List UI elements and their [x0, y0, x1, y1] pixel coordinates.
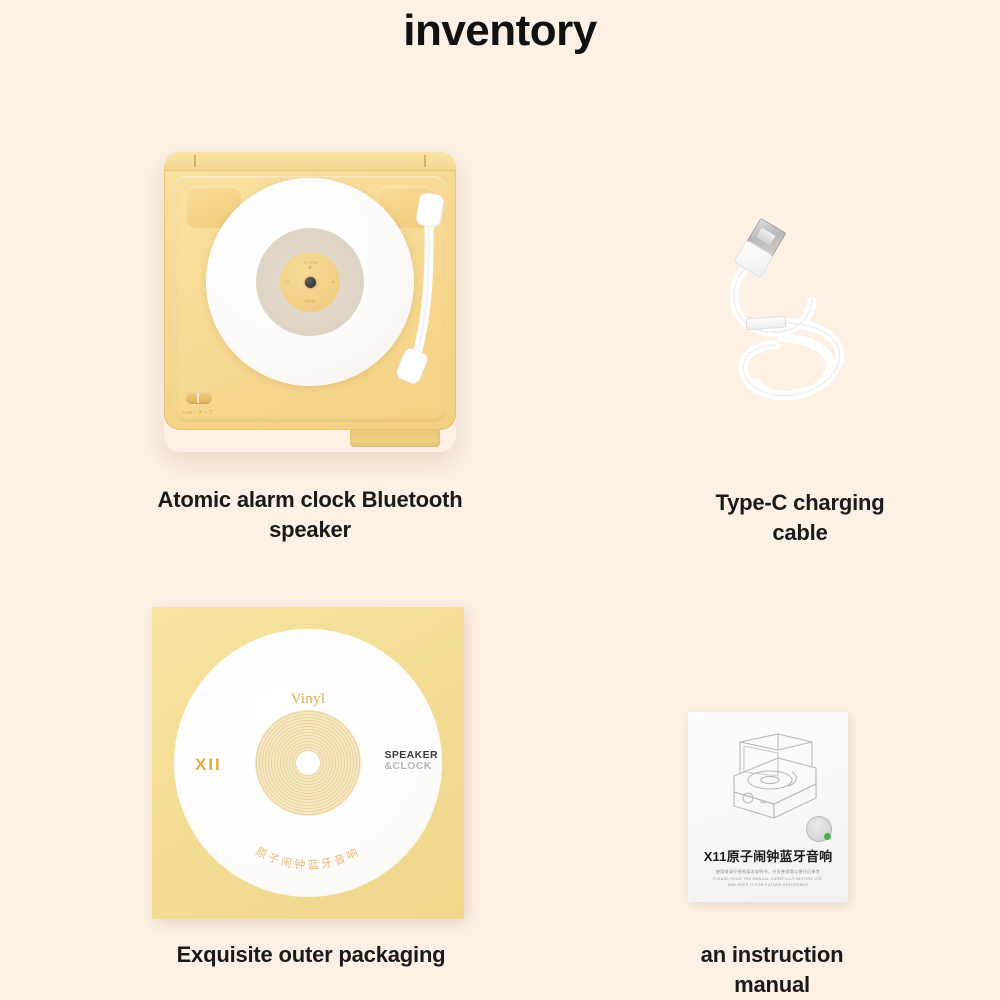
caption-line-1: Exquisite outer packaging: [177, 942, 446, 967]
brand-line-2: &CLOCK: [384, 761, 438, 772]
packaging-box: Vinyl XII SPEAKER &CLOCK 原子闹钟蓝牙音响: [152, 607, 464, 919]
turntable-disc-ring: · 33 RPM · 33 45 RPM: [256, 228, 364, 336]
label-dot-marker: [309, 266, 312, 269]
product-image-instruction-manual: X11原子闹钟蓝牙音响 使用前请仔细阅读本说明书，并妥善保管以便日后参考 PLE…: [688, 712, 856, 908]
manual-subtext-en-2: AND KEEP IT FOR FUTURE REFERENCE: [688, 882, 848, 889]
caption-line-1: Atomic alarm clock Bluetooth: [158, 487, 463, 512]
product-image-turntable-speaker: · 33 RPM · 33 45 RPM: [150, 130, 470, 460]
cable-illustration: [690, 205, 910, 420]
caption-instruction-manual: an instruction manual: [688, 940, 856, 999]
turntable-spindle: [305, 277, 316, 288]
manual-cover: X11原子闹钟蓝牙音响 使用前请仔细阅读本说明书，并妥善保管以便日后参考 PLE…: [688, 712, 848, 902]
label-text-left: 33: [285, 280, 289, 284]
manual-subtext-cn: 使用前请仔细阅读本说明书，并妥善保管以便日后参考: [688, 868, 848, 876]
inventory-page: inventory · 33 RPM · 33 45 RPM: [0, 0, 1000, 1000]
caption-turntable-speaker: Atomic alarm clock Bluetooth speaker: [150, 485, 470, 544]
manual-title: X11原子闹钟蓝牙音响: [688, 846, 848, 865]
turntable-mode-switch[interactable]: [186, 392, 212, 404]
manual-subtext: 使用前请仔细阅读本说明书，并妥善保管以便日后参考 PLEASE READ THE…: [688, 868, 848, 889]
label-text-top: · 33 RPM ·: [301, 261, 319, 265]
certification-seal-icon: [806, 816, 832, 842]
caption-line-2: speaker: [269, 517, 351, 542]
page-title: inventory: [0, 6, 1000, 56]
packaging-disc-center-hole: [296, 751, 320, 775]
packaging-brand-mark: SPEAKER &CLOCK: [384, 750, 438, 773]
turntable-lid-hinge: [164, 152, 456, 171]
manual-product-line-drawing: [704, 732, 832, 828]
product-image-outer-packaging: Vinyl XII SPEAKER &CLOCK 原子闹钟蓝牙音响 Exquis…: [152, 607, 470, 925]
turntable-center-label: · 33 RPM · 33 45 RPM: [280, 252, 340, 312]
turntable-switch-label: AUX・テープ: [182, 410, 213, 416]
packaging-roman-numeral: XII: [195, 755, 222, 775]
product-image-type-c-cable: Type-C charging cable: [690, 205, 910, 420]
turntable-tonearm: [396, 190, 456, 400]
turntable-body: · 33 RPM · 33 45 RPM: [164, 152, 456, 430]
label-text-right: 45: [331, 280, 335, 284]
caption-type-c-cable: Type-C charging cable: [690, 488, 910, 547]
caption-line-1: Type-C charging cable: [716, 490, 885, 545]
caption-outer-packaging: Exquisite outer packaging: [152, 940, 470, 970]
caption-line-1: an instruction manual: [701, 942, 844, 997]
turntable-platter-disc: · 33 RPM · 33 45 RPM: [206, 178, 414, 386]
packaging-vinyl-text: Vinyl: [291, 691, 326, 708]
manual-subtext-en-1: PLEASE READ THE MANUAL CAREFULLY BEFORE …: [688, 876, 848, 883]
label-text-bottom: RPM: [305, 299, 316, 304]
